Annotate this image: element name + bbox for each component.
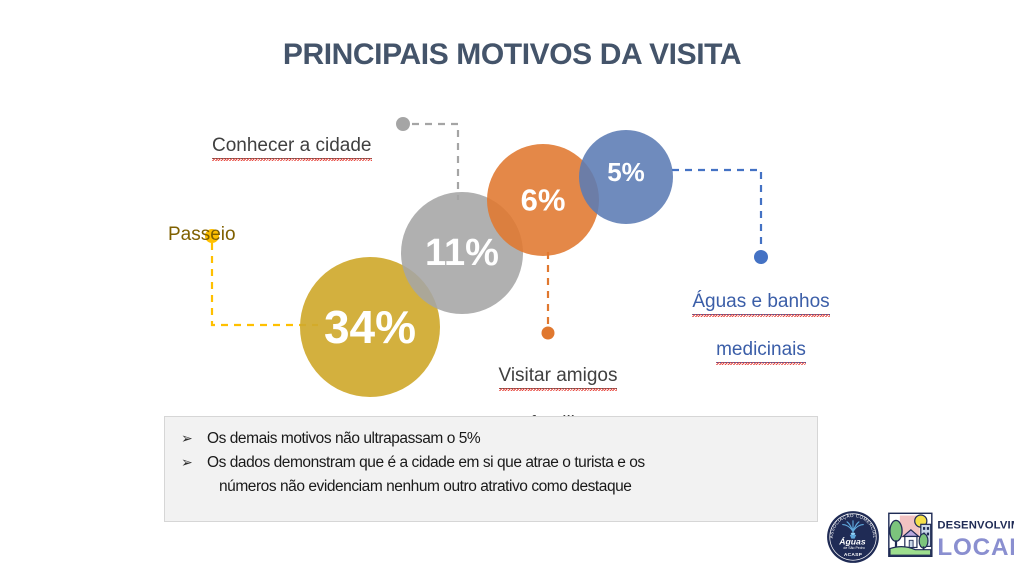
bubble-value-conhecer: 11% [425, 232, 499, 274]
bubble-passeio[interactable] [300, 257, 440, 397]
list-item: ➢ Os dados demonstram que é a cidade em … [181, 451, 801, 499]
callout-passeio: Passeio [168, 199, 236, 247]
logo-strip: ASSOCIAÇÃO COMERCIAL Águas de São Pedro … [818, 506, 1018, 572]
callout-conhecer-label: Conhecer a cidade [212, 134, 372, 159]
acasp-logo: ASSOCIAÇÃO COMERCIAL Águas de São Pedro … [826, 510, 880, 564]
notes-box: ➢ Os demais motivos não ultrapassam o 5%… [164, 416, 818, 522]
bullet-arrow-icon: ➢ [181, 451, 207, 474]
callout-aguas-line1: Águas e banhos [692, 290, 829, 315]
bubble-value-passeio: 34% [324, 301, 416, 353]
local-logo-line2: LOCAL [937, 534, 1014, 561]
note-2-line-2: números não evidenciam nenhum outro atra… [207, 475, 801, 499]
bubble-visitar[interactable] [487, 144, 599, 256]
connector-aguas [672, 170, 768, 264]
note-1-line-1: Os demais motivos não ultrapassam o 5% [207, 430, 480, 447]
connector-dot-aguas [754, 250, 768, 264]
connector-dot-conhecer [396, 117, 410, 131]
callout-passeio-label: Passeio [168, 224, 236, 245]
acasp-subtitle: de São Pedro [843, 546, 864, 550]
connector-conhecer [396, 117, 458, 200]
list-item: ➢ Os demais motivos não ultrapassam o 5% [181, 427, 801, 451]
desenvolvimento-local-logo: DESENVOLVIMENTO LOCAL [886, 510, 1014, 564]
bubble-conhecer[interactable] [401, 192, 523, 314]
callout-conhecer: Conhecer a cidade [212, 110, 372, 159]
bubble-value-aguas: 5% [607, 157, 645, 187]
slide-canvas: PRINCIPAIS MOTIVOS DA VISITA [0, 0, 1024, 576]
connector-visitar [542, 252, 555, 340]
page-title: PRINCIPAIS MOTIVOS DA VISITA [0, 38, 1024, 72]
callout-visitar-line1: Visitar amigos [499, 364, 618, 389]
local-illustration [889, 513, 932, 556]
bubble-value-visitar: 6% [521, 183, 566, 218]
callout-aguas: Águas e banhos medicinais [666, 266, 856, 387]
bubble-aguas[interactable] [579, 130, 673, 224]
connector-dot-visitar [542, 327, 555, 340]
callout-aguas-line2: medicinais [716, 338, 806, 363]
note-2-line-1: Os dados demonstram que é a cidade em si… [207, 454, 645, 471]
acasp-acronym: ACASP [844, 552, 863, 558]
bullet-arrow-icon: ➢ [181, 427, 207, 450]
local-logo-line1: DESENVOLVIMENTO [937, 520, 1014, 532]
